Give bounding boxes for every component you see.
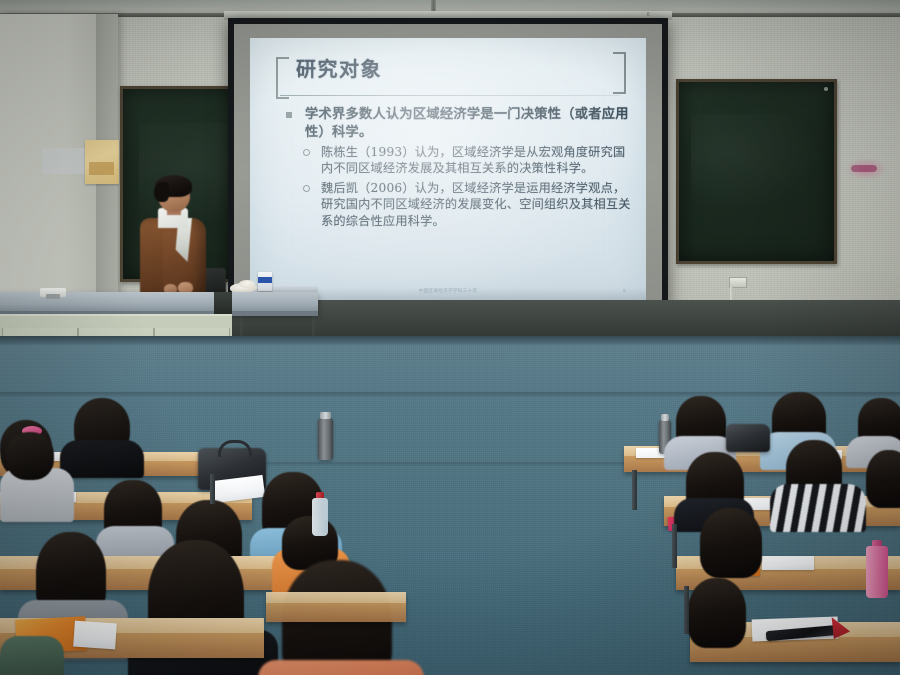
student-desk	[266, 592, 406, 622]
projection-screen: 研究对象 学术界多数人认为区域经济学是一门决策性（或者应用性）科学。 陈栋生（1…	[228, 18, 668, 330]
flask-cap	[320, 412, 331, 419]
student-head	[688, 578, 746, 648]
slide-bullet-level2: 魏后凯（2006）认为，区域经济学是运用经济学观点，研究国内不同区域经济的发展变…	[286, 180, 632, 229]
water-bottle	[866, 540, 888, 598]
slide-title-block: 研究对象	[276, 54, 628, 98]
backpack	[726, 424, 770, 452]
bottle-body	[866, 546, 888, 598]
student-torso	[0, 636, 64, 675]
bracket-right-icon	[613, 52, 626, 94]
student-head	[700, 508, 762, 578]
chalk-magnet	[824, 87, 828, 91]
slide-title: 研究对象	[296, 56, 382, 82]
lecturer-hair-side	[154, 182, 169, 202]
student-torso	[60, 440, 144, 478]
circle-bullet-icon	[303, 149, 310, 156]
podium-object	[46, 294, 60, 299]
screen-mat: 研究对象 学术界多数人认为区域经济学是一门决策性（或者应用性）科学。 陈栋生（1…	[234, 24, 662, 324]
desk-leg	[684, 586, 689, 634]
slide-bullet-text: 陈栋生（1993）认为，区域经济学是从宏观角度研究国内不同区域经济发展及其相互关…	[321, 145, 625, 175]
desk-panel	[266, 603, 406, 622]
lecturer-arm	[141, 226, 163, 294]
student-head	[866, 450, 900, 508]
square-bullet-icon	[286, 112, 292, 118]
wall-notice-strip	[42, 148, 90, 174]
slide-bullet-text: 学术界多数人认为区域经济学是一门决策性（或者应用性）科学。	[305, 107, 629, 140]
chalk-smudge	[691, 114, 821, 211]
projected-image: 研究对象 学术界多数人认为区域经济学是一门决策性（或者应用性）科学。 陈栋生（1…	[250, 38, 646, 302]
desk-leg	[210, 474, 215, 504]
chalkboard-right	[676, 79, 837, 264]
lecturer	[136, 178, 212, 306]
floor-riser	[0, 392, 900, 397]
paper-sheet	[73, 621, 117, 650]
slide-bullet-level2: 陈栋生（1993）认为，区域经济学是从宏观角度研究国内不同区域经济发展及其相互关…	[286, 144, 632, 177]
podium-gap	[214, 292, 232, 316]
desk-surface	[266, 592, 406, 603]
floor-riser	[0, 336, 900, 345]
circle-bullet-icon	[303, 185, 310, 192]
bracket-left-icon	[276, 57, 289, 99]
water-bottle	[312, 492, 328, 536]
student-torso	[258, 660, 424, 675]
tissue-pack	[239, 280, 255, 288]
student-head	[6, 432, 54, 480]
powerpoint-slide: 研究对象 学术界多数人认为区域经济学是一门决策性（或者应用性）科学。 陈栋生（1…	[250, 38, 646, 302]
beverage-carton	[258, 272, 272, 291]
bottle-body	[312, 498, 328, 536]
wall-poster	[85, 140, 119, 184]
lecture-hall-photo: 6 研究对象 学术界多数人认为区域经济学是一门决策性（或者应用性）科学。	[0, 0, 900, 675]
desk-leg	[672, 524, 677, 568]
backpack-handle	[218, 440, 252, 457]
slide-bullet-text: 魏后凯（2006）认为，区域经济学是运用经济学观点，研究国内不同区域经济的发展变…	[321, 181, 631, 228]
slide-bullet-level1: 学术界多数人认为区域经济学是一门决策性（或者应用性）科学。	[286, 106, 632, 141]
wall-stain-core	[851, 165, 877, 172]
flask-cap	[661, 414, 670, 421]
paper-sheet	[762, 556, 814, 570]
desk-leg	[632, 470, 637, 510]
vacuum-flask	[318, 418, 333, 460]
student-torso-striped	[770, 484, 866, 532]
slide-body: 学术界多数人认为区域经济学是一门决策性（或者应用性）科学。 陈栋生（1993）认…	[286, 106, 632, 229]
title-underline	[280, 95, 620, 96]
